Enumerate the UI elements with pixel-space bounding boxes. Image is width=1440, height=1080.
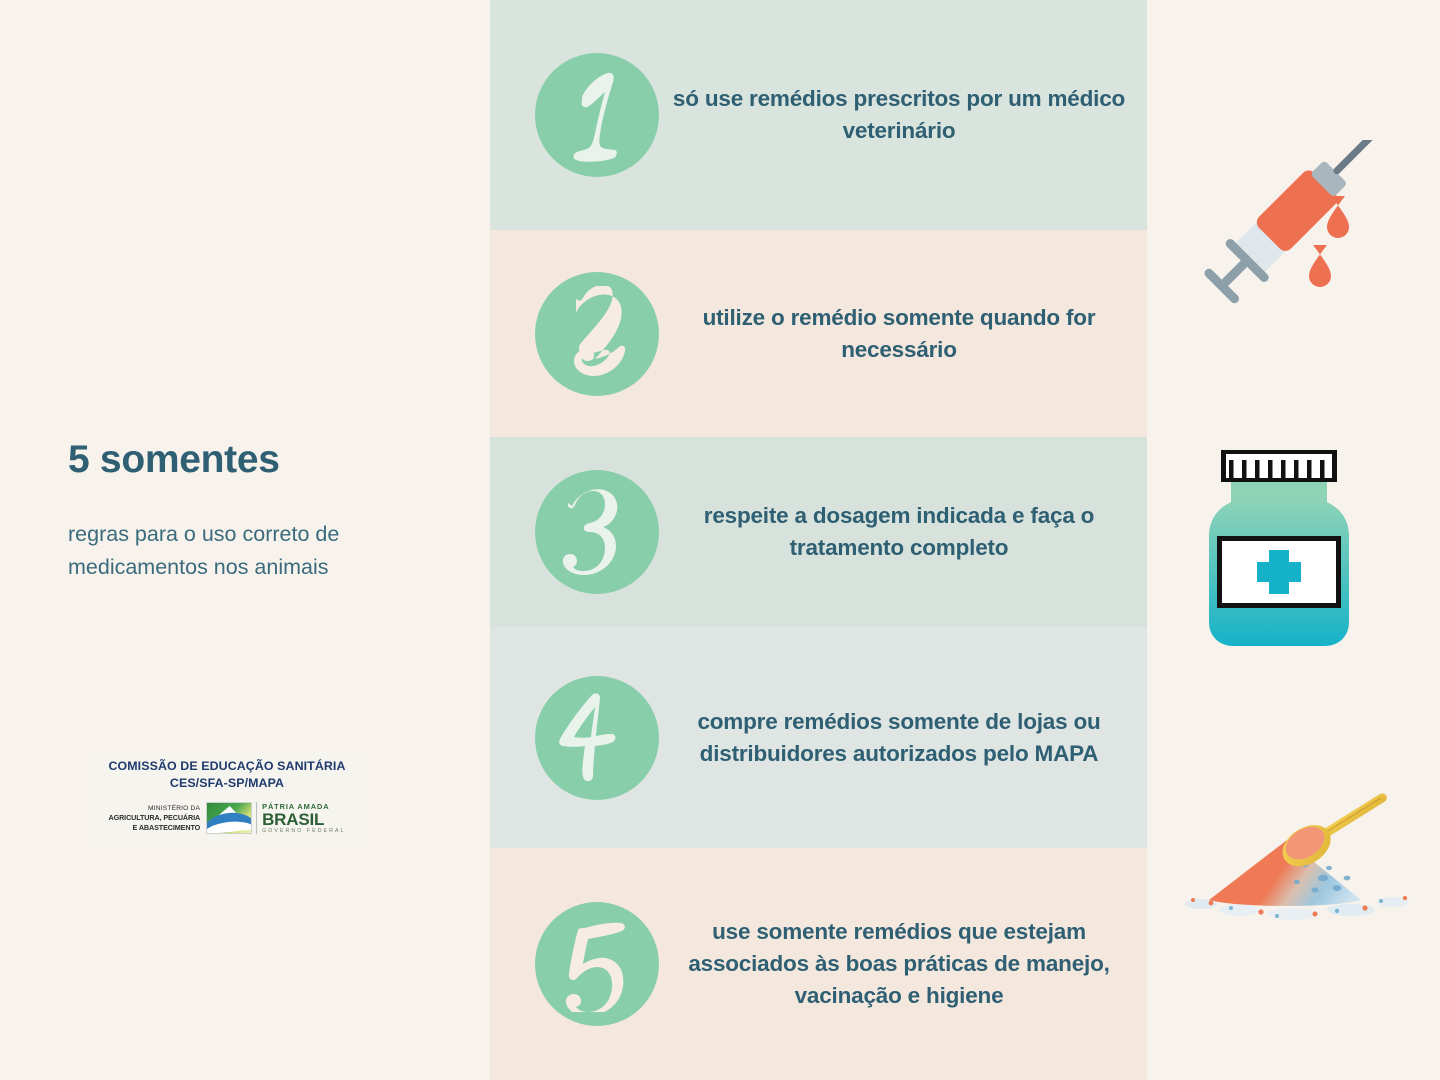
left-panel: 5 somentes regras para o uso correto de … [0, 0, 490, 1080]
rule-text: utilize o remédio somente quando for nec… [659, 302, 1147, 366]
brand-bottom-text: GOVERNO FEDERAL [262, 828, 345, 834]
commission-title-line1: COMISSÃO DE EDUCAÇÃO SANITÁRIA [88, 758, 366, 775]
commission-title: COMISSÃO DE EDUCAÇÃO SANITÁRIA CES/SFA-S… [88, 752, 366, 792]
commission-title-line2: CES/SFA-SP/MAPA [88, 775, 366, 792]
commission-logo-block: COMISSÃO DE EDUCAÇÃO SANITÁRIA CES/SFA-S… [88, 752, 366, 844]
ministry-line3: E ABASTECIMENTO [109, 823, 201, 833]
page-title: 5 somentes [68, 438, 280, 482]
powder-with-spoon-illustration [1165, 772, 1425, 937]
rule-row: respeite a dosagem indicada e faça o tra… [490, 437, 1147, 627]
rule-text: compre remédios somente de lojas ou dist… [659, 706, 1147, 770]
rule-row: só use remédios prescritos por um médico… [490, 0, 1147, 230]
brand-main-text: BRASIL [262, 811, 345, 828]
rule-number-badge [535, 272, 659, 396]
rules-column: só use remédios prescritos por um médico… [490, 0, 1147, 1080]
brasil-flag-icon [206, 802, 252, 834]
rule-number-badge [535, 676, 659, 800]
rule-number-badge [535, 902, 659, 1026]
ministry-text: MINISTÉRIO DA AGRICULTURA, PECUÁRIA E AB… [109, 804, 201, 833]
syringe-with-drops-illustration [1179, 140, 1379, 320]
medicine-bottle-illustration [1195, 440, 1363, 663]
rule-row: use somente remédios que estejam associa… [490, 848, 1147, 1080]
rule-row: compre remédios somente de lojas ou dist… [490, 627, 1147, 848]
illustrations-panel [1147, 0, 1440, 1080]
ministry-line1: MINISTÉRIO DA [109, 804, 201, 814]
rule-text: use somente remédios que estejam associa… [659, 916, 1147, 1012]
brasil-wordmark: PÁTRIA AMADA BRASIL GOVERNO FEDERAL [256, 802, 345, 834]
brasil-government-mark: PÁTRIA AMADA BRASIL GOVERNO FEDERAL [206, 802, 345, 834]
ministry-line2: AGRICULTURA, PECUÁRIA [109, 813, 201, 823]
page-subtitle: regras para o uso correto de medicamento… [68, 518, 428, 584]
government-logo-row: MINISTÉRIO DA AGRICULTURA, PECUÁRIA E AB… [88, 802, 366, 834]
rule-row: utilize o remédio somente quando for nec… [490, 230, 1147, 437]
rule-text: só use remédios prescritos por um médico… [659, 83, 1147, 147]
rule-number-badge [535, 53, 659, 177]
rule-number-badge [535, 470, 659, 594]
rule-text: respeite a dosagem indicada e faça o tra… [659, 500, 1147, 564]
